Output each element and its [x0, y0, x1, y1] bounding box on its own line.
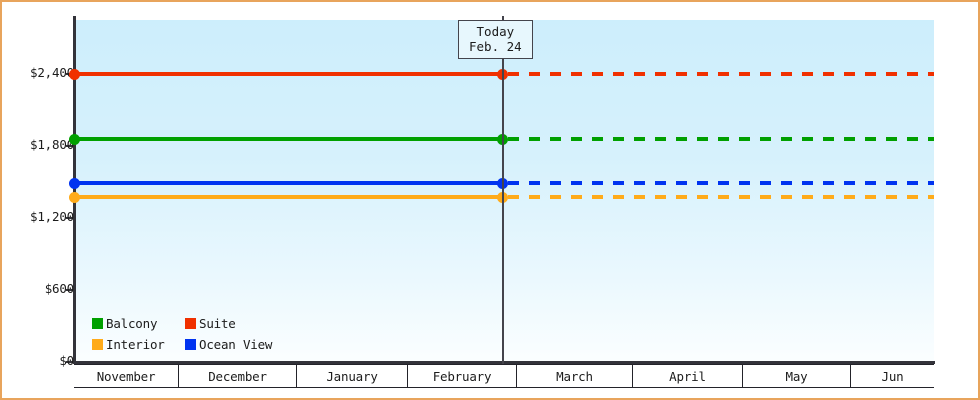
series-point-balcony-start[interactable]	[69, 134, 80, 145]
month-cell-april[interactable]: April	[633, 365, 743, 387]
series-line-actual-suite	[74, 72, 502, 76]
series-point-suite-start[interactable]	[69, 69, 80, 80]
month-cell-may[interactable]: May	[743, 365, 851, 387]
series-line-actual-balcony	[74, 137, 502, 141]
series-point-interior-start[interactable]	[69, 192, 80, 203]
legend-label: Suite	[199, 316, 236, 331]
today-date: Feb. 24	[469, 39, 522, 54]
legend-swatch-icon	[92, 339, 103, 350]
series-line-actual-interior	[74, 195, 502, 199]
series-line-forecast-suite	[508, 72, 934, 76]
month-cell-december[interactable]: December	[179, 365, 297, 387]
series-line-forecast-interior	[508, 195, 934, 199]
legend-item-ocean-view[interactable]: Ocean View	[185, 337, 272, 352]
today-label: Today	[469, 24, 522, 39]
legend-item-suite[interactable]: Suite	[185, 316, 272, 331]
legend-label: Ocean View	[199, 337, 272, 352]
series-line-forecast-balcony	[508, 137, 934, 141]
legend-swatch-icon	[185, 339, 196, 350]
month-cell-november[interactable]: November	[74, 365, 179, 387]
y-tick-label: $1,800	[16, 137, 74, 152]
legend-label: Interior	[106, 337, 165, 352]
month-axis-table: NovemberDecemberJanuaryFebruaryMarchApri…	[74, 364, 934, 388]
y-tick-label: $2,400	[16, 65, 74, 80]
month-cell-january[interactable]: January	[297, 365, 408, 387]
month-cell-march[interactable]: March	[517, 365, 633, 387]
legend-item-interior[interactable]: Interior	[92, 337, 185, 352]
today-vertical-line	[502, 16, 504, 364]
legend-swatch-icon	[185, 318, 196, 329]
month-cell-jun[interactable]: Jun	[851, 365, 934, 387]
legend-swatch-icon	[92, 318, 103, 329]
legend-item-balcony[interactable]: Balcony	[92, 316, 185, 331]
y-tick-label: $600	[16, 281, 74, 296]
today-annotation-box: Today Feb. 24	[458, 20, 533, 59]
legend: BalconySuiteInteriorOcean View	[92, 313, 272, 355]
month-cell-february[interactable]: February	[408, 365, 517, 387]
series-line-actual-ocean-view	[74, 181, 502, 185]
legend-label: Balcony	[106, 316, 157, 331]
series-line-forecast-ocean-view	[508, 181, 934, 185]
series-point-ocean-view-start[interactable]	[69, 178, 80, 189]
chart-widget: $2,400$1,800$1,200$600$0 Today Feb. 24 B…	[0, 0, 980, 400]
y-tick-label: $0	[16, 353, 74, 368]
y-tick-label: $1,200	[16, 209, 74, 224]
